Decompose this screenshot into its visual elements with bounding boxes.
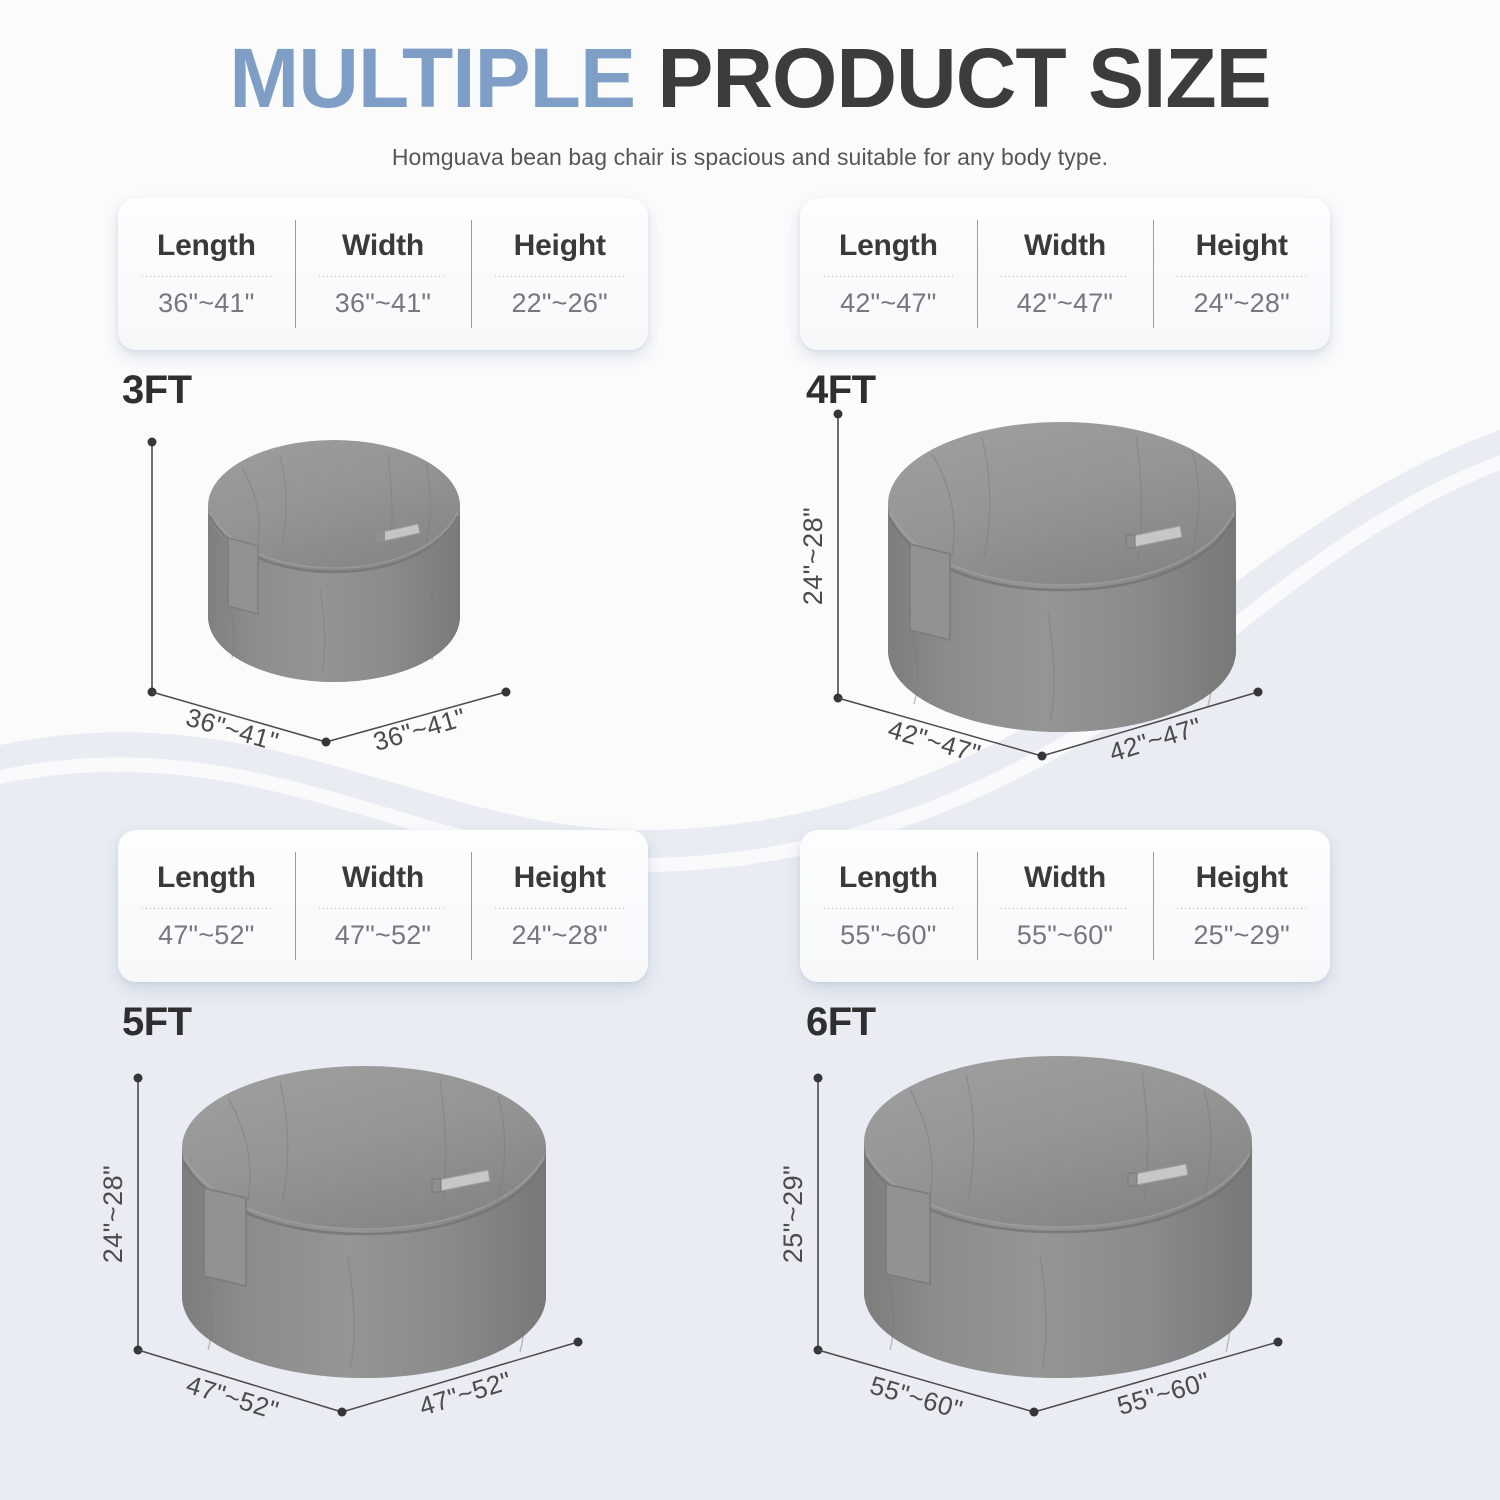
dimension-endpoint-dot — [1254, 688, 1263, 697]
spec-header-width: Width — [1024, 861, 1106, 895]
product-diagram-6ft: 25"~29" 55"~60" 55"~60" — [790, 1050, 1360, 1450]
spec-divider-dotted — [824, 276, 952, 277]
dimension-right-label: 47"~52" — [416, 1365, 516, 1421]
spec-value-length: 55"~60" — [840, 920, 936, 951]
dimension-height-label: 24"~28" — [798, 507, 828, 606]
dimension-endpoint-dot — [574, 1338, 583, 1347]
spec-divider-dotted — [495, 276, 623, 277]
spec-col-width: Width 47"~52" — [295, 830, 472, 982]
product-pocket — [910, 544, 950, 640]
product-diagram-5ft: 24"~28" 47"~52" 47"~52" — [120, 1050, 680, 1450]
page-title: MULTIPLE PRODUCT SIZE — [0, 34, 1500, 122]
dimension-endpoint-dot — [502, 688, 511, 697]
product-pocket — [228, 538, 258, 614]
spec-header-height: Height — [1196, 861, 1288, 895]
size-label-4ft: 4FT — [806, 368, 876, 413]
header: MULTIPLE PRODUCT SIZE Homguava bean bag … — [0, 0, 1500, 171]
spec-value-width: 47"~52" — [335, 920, 431, 951]
spec-card-6ft: Length 55"~60" Width 55"~60" Height 25"~… — [800, 830, 1330, 982]
dimension-endpoint-dot — [338, 1408, 347, 1417]
dimension-right-label: 36"~41" — [370, 702, 470, 757]
spec-divider-dotted — [1177, 276, 1305, 277]
spec-value-width: 36"~41" — [335, 288, 431, 319]
spec-divider-dotted — [495, 908, 623, 909]
spec-col-width: Width 36"~41" — [295, 198, 472, 350]
size-label-6ft: 6FT — [806, 1000, 876, 1045]
spec-header-length: Length — [157, 229, 256, 263]
spec-col-width: Width 42"~47" — [977, 198, 1154, 350]
spec-value-height: 25"~29" — [1193, 920, 1289, 951]
spec-col-height: Height 22"~26" — [471, 198, 648, 350]
dimension-left-label: 36"~41" — [183, 702, 283, 757]
spec-header-width: Width — [342, 861, 424, 895]
spec-divider-dotted — [824, 908, 952, 909]
spec-value-length: 36"~41" — [158, 288, 254, 319]
spec-divider-dotted — [142, 908, 270, 909]
spec-divider-dotted — [142, 276, 270, 277]
title-accent: MULTIPLE — [229, 31, 635, 125]
dimension-endpoint-dot — [134, 1074, 143, 1083]
spec-col-height: Height 25"~29" — [1153, 830, 1330, 982]
spec-card-3ft: Length 36"~41" Width 36"~41" Height 22"~… — [118, 198, 648, 350]
spec-value-width: 55"~60" — [1017, 920, 1113, 951]
dimension-left-label: 42"~47" — [885, 714, 985, 769]
spec-divider-dotted — [319, 908, 447, 909]
spec-header-height: Height — [514, 229, 606, 263]
dimension-endpoint-dot — [148, 438, 157, 447]
size-label-5ft: 5FT — [122, 1000, 192, 1045]
spec-header-length: Length — [839, 861, 938, 895]
title-main: PRODUCT SIZE — [657, 31, 1270, 125]
spec-card-5ft: Length 47"~52" Width 47"~52" Height 24"~… — [118, 830, 648, 982]
product-diagram-3ft: 22"~26" 36"~41" 36"~41" — [130, 420, 650, 760]
dimension-endpoint-dot — [1030, 1408, 1039, 1417]
spec-value-width: 42"~47" — [1017, 288, 1113, 319]
spec-col-height: Height 24"~28" — [471, 830, 648, 982]
spec-header-height: Height — [514, 861, 606, 895]
spec-value-height: 24"~28" — [1193, 288, 1289, 319]
spec-header-width: Width — [1024, 229, 1106, 263]
spec-col-length: Length 42"~47" — [800, 198, 977, 350]
size-label-3ft: 3FT — [122, 368, 192, 413]
dimension-endpoint-dot — [814, 1074, 823, 1083]
spec-value-length: 42"~47" — [840, 288, 936, 319]
spec-divider-dotted — [1001, 276, 1129, 277]
spec-value-height: 24"~28" — [511, 920, 607, 951]
spec-col-height: Height 24"~28" — [1153, 198, 1330, 350]
page-subtitle: Homguava bean bag chair is spacious and … — [0, 144, 1500, 171]
spec-header-height: Height — [1196, 229, 1288, 263]
dimension-height-label: 24"~28" — [98, 1165, 128, 1264]
spec-header-width: Width — [342, 229, 424, 263]
spec-col-width: Width 55"~60" — [977, 830, 1154, 982]
dimension-left-label: 47"~52" — [183, 1369, 283, 1425]
spec-col-length: Length 36"~41" — [118, 198, 295, 350]
dimension-height-label: 25"~29" — [778, 1165, 808, 1264]
spec-header-length: Length — [157, 861, 256, 895]
spec-header-length: Length — [839, 229, 938, 263]
spec-divider-dotted — [1177, 908, 1305, 909]
dimension-endpoint-dot — [1038, 752, 1047, 761]
product-diagram-4ft: 24"~28" 42"~47" 42"~47" — [810, 392, 1350, 792]
spec-col-length: Length 55"~60" — [800, 830, 977, 982]
infographic-page: MULTIPLE PRODUCT SIZE Homguava bean bag … — [0, 0, 1500, 1500]
dimension-endpoint-dot — [1274, 1338, 1283, 1347]
spec-col-length: Length 47"~52" — [118, 830, 295, 982]
spec-card-4ft: Length 42"~47" Width 42"~47" Height 24"~… — [800, 198, 1330, 350]
spec-divider-dotted — [1001, 908, 1129, 909]
dimension-endpoint-dot — [322, 738, 331, 747]
product-pocket — [204, 1188, 246, 1286]
spec-value-height: 22"~26" — [511, 288, 607, 319]
spec-divider-dotted — [319, 276, 447, 277]
product-pocket — [886, 1184, 930, 1284]
spec-value-length: 47"~52" — [158, 920, 254, 951]
